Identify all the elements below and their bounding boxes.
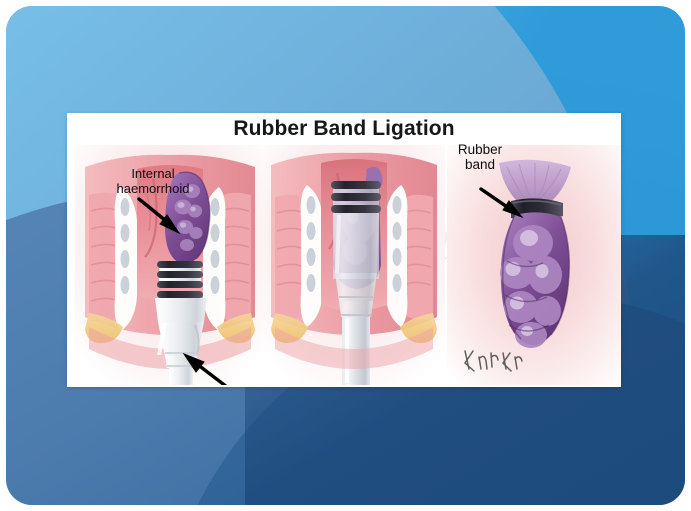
figure-step-3-illustration xyxy=(447,145,621,385)
figure-step-2 xyxy=(263,145,445,385)
arrow-to-rubber-band xyxy=(477,183,533,223)
figure-title: Rubber Band Ligation xyxy=(67,117,621,141)
illustration-panel: Rubber Band Ligation xyxy=(67,113,621,387)
label-internal-haemorrhoid: Internal haemorrhoid xyxy=(94,167,212,196)
figure-step-1: Internal haemorrhoid Ligator xyxy=(75,145,265,385)
arrow-to-haemorrhoid xyxy=(133,195,189,239)
arrow-to-ligator xyxy=(175,353,235,385)
slide: Rubber Band Ligation xyxy=(0,0,691,511)
figure-step-2-illustration xyxy=(263,145,445,385)
figure-step-3 xyxy=(447,145,621,385)
label-rubber-band: Rubber band xyxy=(438,142,522,172)
